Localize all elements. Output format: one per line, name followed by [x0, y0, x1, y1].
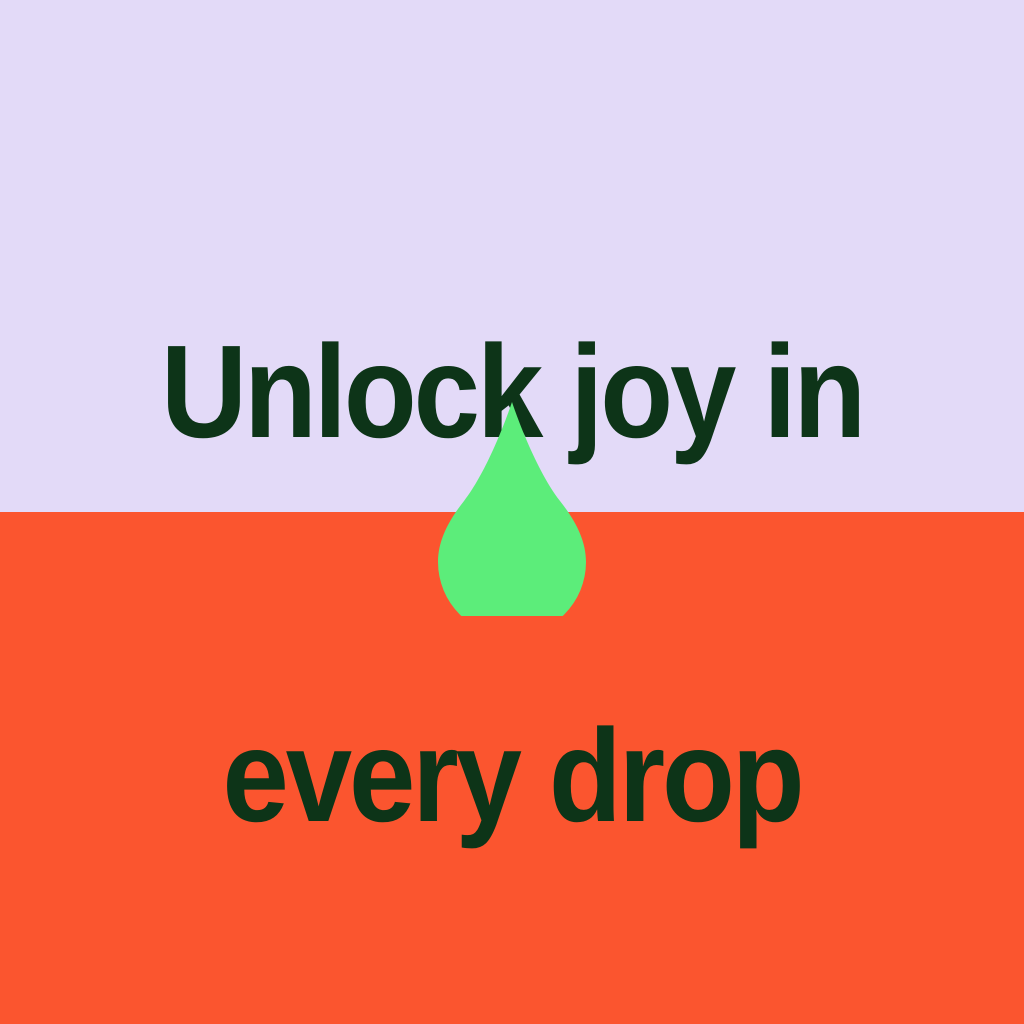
droplet-graphic — [437, 398, 587, 616]
droplet-shape — [438, 402, 586, 616]
subheadline: Plant-based everyday bliss — [102, 645, 921, 1024]
subheadline-line-1: Plant-based — [102, 999, 921, 1024]
poster-canvas: Unlock joy in every drop Plant-based eve… — [0, 0, 1024, 1024]
water-droplet-icon — [437, 398, 587, 616]
